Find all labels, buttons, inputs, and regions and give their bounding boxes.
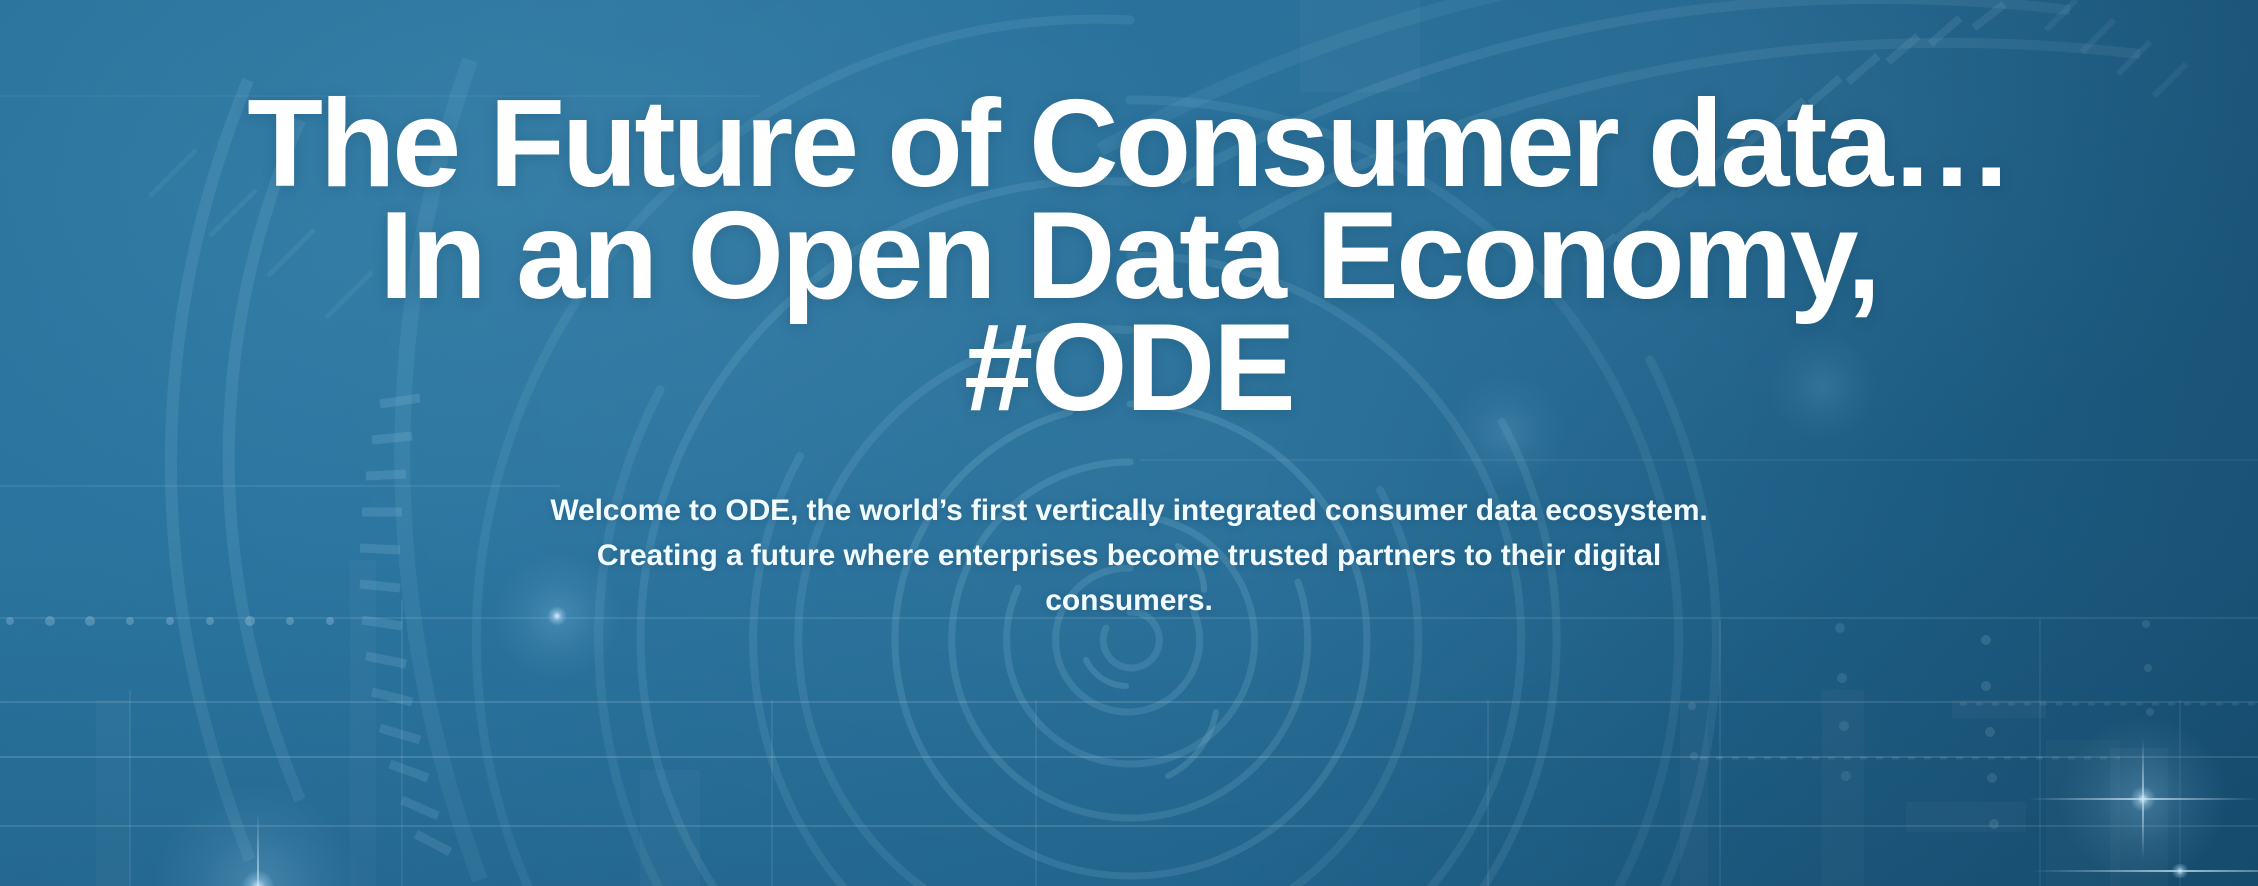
hero-headline-line-1: The Future of Consumer data… <box>0 88 2258 200</box>
hero-headline: The Future of Consumer data… In an Open … <box>0 88 2258 424</box>
hero-banner: The Future of Consumer data… In an Open … <box>0 0 2258 886</box>
hero-headline-line-3: #ODE <box>0 312 2258 424</box>
hero-headline-line-2: In an Open Data Economy, <box>0 200 2258 312</box>
hero-content: The Future of Consumer data… In an Open … <box>0 0 2258 886</box>
hero-subheadline: Welcome to ODE, the world’s first vertic… <box>539 488 1719 623</box>
